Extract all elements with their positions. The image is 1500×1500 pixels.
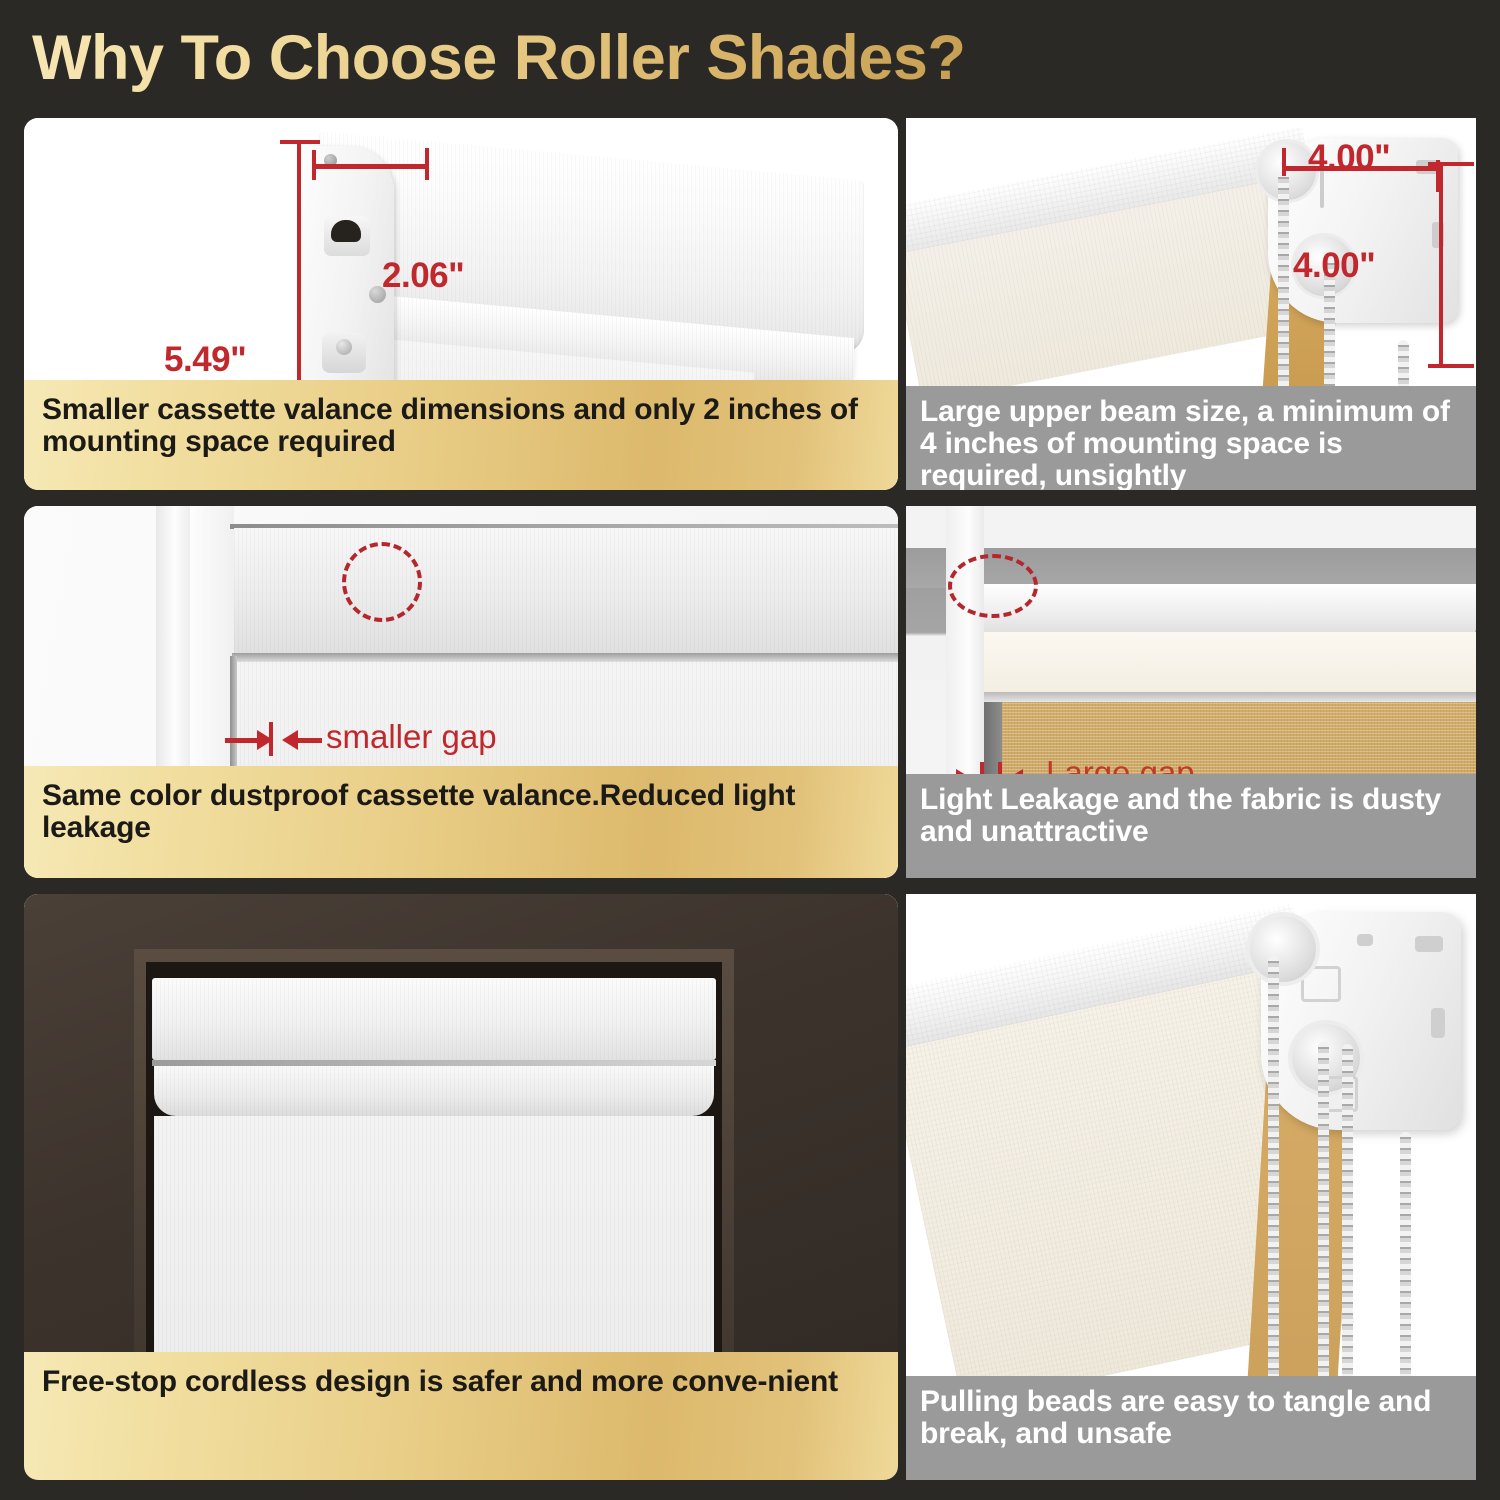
panel-6-caption: Pulling beads are easy to tangle and bre… [906,1376,1476,1480]
fabric-lip [968,692,1476,702]
cassette-valance [152,978,716,1060]
infographic-page: Why To Choose Roller Shades? 2.06" [0,0,1500,1500]
valance-roll [154,1066,714,1116]
end-cap-bracket-clip [322,333,366,373]
width-dim-tick-left [312,150,316,180]
panel-6: Pulling beads are easy to tangle and bre… [906,894,1476,1480]
gap-arrow-left-shaft [225,738,259,743]
width-dim-tick-right [425,148,429,180]
height-dim-tick-top [280,140,320,144]
panel-2-caption: Large upper beam size, a minimum of 4 in… [906,386,1476,490]
bead-chain-2 [1318,1042,1329,1408]
height-dimension-label: 5.49" [164,340,246,380]
panel-1-caption: Smaller cassette valance dimensions and … [24,380,898,490]
bracket-notch-3 [1357,934,1373,946]
width-dimension-label: 4.00" [1308,138,1390,178]
ceiling-strip [906,506,1476,548]
end-cap-slot [324,216,370,256]
height-dim-line [1439,162,1443,368]
bracket-notch-1 [1415,936,1443,952]
panel-5-caption: Free-stop cordless design is safer and m… [24,1352,898,1480]
chain-sprocket-upper [1250,916,1316,982]
panel-4-caption: Light Leakage and the fabric is dusty an… [906,774,1476,878]
panel-2: 4.00" 4.00" Large upper beam size, a min… [906,118,1476,490]
panel-5: Free-stop cordless design is safer and m… [24,894,898,1480]
gap-marker [269,722,273,756]
cassette-valance [234,528,898,653]
panel-grid: 2.06" 5.49" Smaller cassette valance dim… [24,118,1476,1480]
height-dim-tick-top [1428,162,1474,166]
bead-chain-1 [1268,956,1279,1408]
highlight-circle-icon [342,542,422,622]
width-dim-line [314,164,429,169]
panel-1: 2.06" 5.49" Smaller cassette valance dim… [24,118,898,490]
panel-4: Large gap Light Leakage and the fabric i… [906,506,1476,878]
width-dimension-label: 2.06" [382,256,464,296]
gap-arrow-right-shaft [296,738,322,743]
panel-3: smaller gap Same color dustproof cassett… [24,506,898,878]
white-fabric-band [970,632,1476,694]
height-dimension-label: 4.00" [1293,246,1375,286]
roller-tube [968,584,1476,636]
gap-callout-label: smaller gap [326,718,497,756]
valance-lip [232,653,898,662]
bracket-notch-2 [1431,1008,1445,1038]
page-title: Why To Choose Roller Shades? [32,22,965,94]
bead-chain-3 [1342,1044,1353,1408]
bead-chain-4 [1400,1132,1411,1408]
height-dim-tick-bottom [1428,364,1474,368]
panel-3-caption: Same color dustproof cassette valance.Re… [24,766,898,878]
width-dim-tick-left [1282,148,1286,176]
highlight-circle-icon [948,554,1038,618]
